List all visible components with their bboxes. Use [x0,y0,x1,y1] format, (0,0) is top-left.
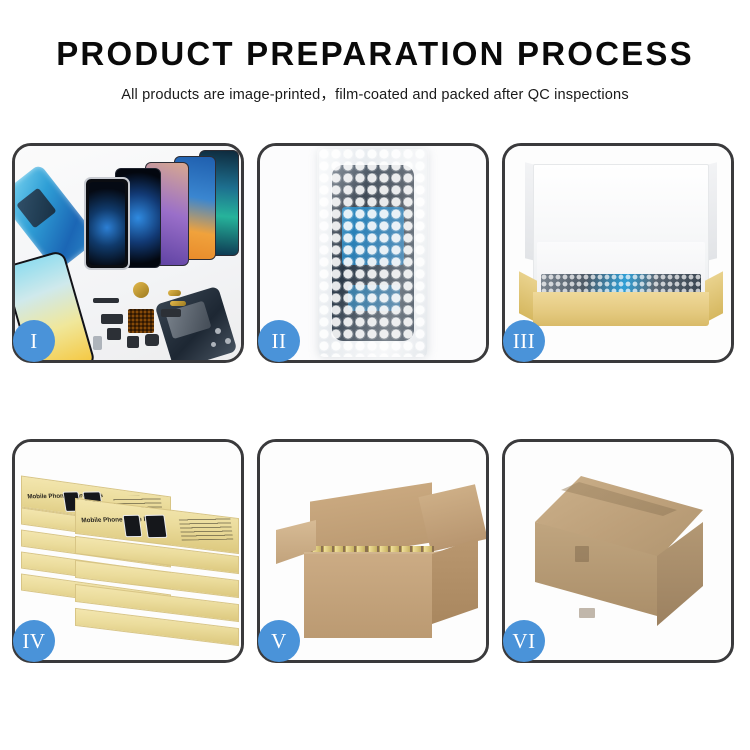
carton-handle-tab-2-icon [579,608,595,618]
carton-side-icon [432,538,478,624]
part-strip-icon [93,298,119,303]
part-screw-icon [215,328,221,334]
part-sim-tray-icon [93,336,102,350]
part-cable-icon [101,314,123,324]
step-badge-5: V [258,620,300,662]
film-gloss-icon [317,147,429,359]
screen-glass-icon [84,177,130,270]
part-coil-icon [133,282,149,298]
carton-body-icon [304,554,432,638]
product-preparation-infographic: PRODUCT PREPARATION PROCESS All products… [0,0,750,750]
page-subtitle: All products are image-printed，film-coat… [0,72,750,104]
carton-handle-tab-icon [575,546,589,562]
step-badge-4: IV [13,620,55,662]
box-front-panel-icon [533,292,709,326]
part-screw-3-icon [211,342,216,347]
process-step-panel-1[interactable]: I [12,143,244,363]
step-badge-3: III [503,320,545,362]
part-camera-icon [145,334,159,346]
part-screw-2-icon [225,338,231,344]
process-step-panel-5[interactable]: V [257,439,489,663]
box-art-screen-icon [123,515,143,537]
process-step-grid: I II III [12,143,738,683]
page-title: PRODUCT PREPARATION PROCESS [0,0,750,72]
part-module-icon [107,328,121,340]
step-badge-2: II [258,320,300,362]
process-step-panel-2[interactable]: II [257,143,489,363]
box-spec-lines-icon [179,517,234,540]
header: PRODUCT PREPARATION PROCESS All products… [0,0,750,104]
step-badge-1: I [13,320,55,362]
process-step-panel-4[interactable]: Mobile Phone Spare Parts Mobile Phone Sp… [12,439,244,663]
process-step-panel-3[interactable]: III [502,143,734,363]
part-button-icon [168,290,181,296]
part-flex-icon [170,301,186,306]
box-art-screen-icon [144,515,167,539]
part-connector-grid-icon [128,309,154,333]
process-step-panel-6[interactable]: VI [502,439,734,663]
step-badge-6: VI [503,620,545,662]
part-flex-2-icon [161,309,181,317]
part-speaker-icon [127,336,139,348]
phone-backplate-icon [155,286,238,360]
